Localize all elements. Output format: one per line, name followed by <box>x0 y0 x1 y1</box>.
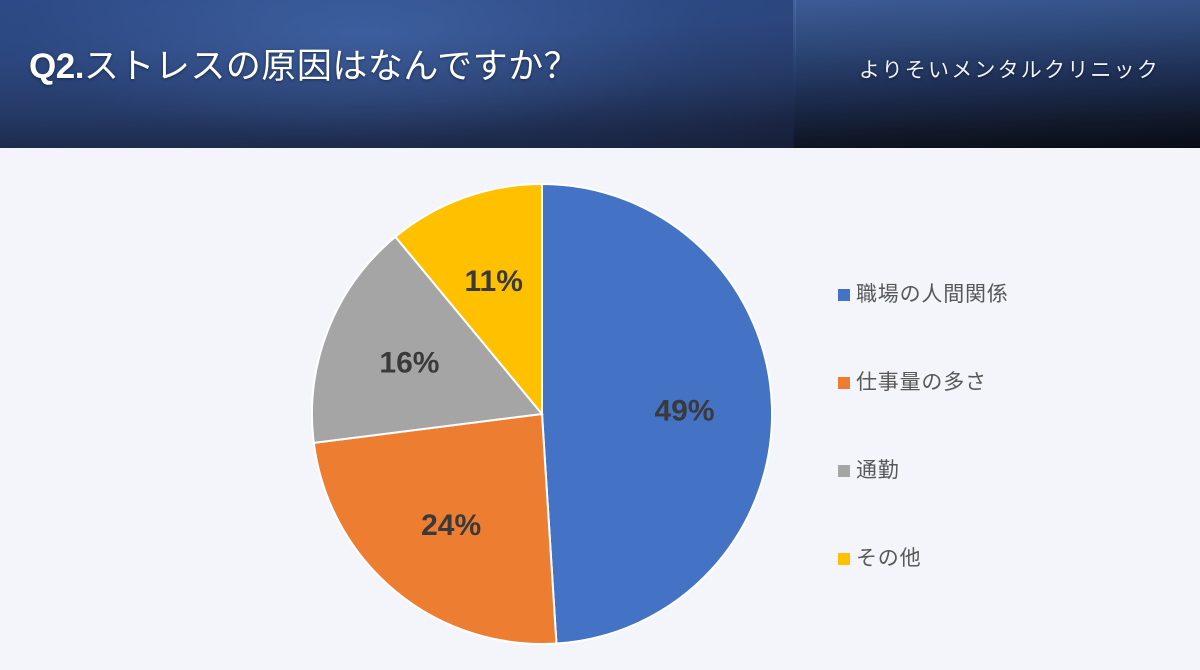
legend-swatch-icon-1 <box>838 377 850 389</box>
legend-item-3[interactable]: その他 <box>838 548 1138 570</box>
pie-chart: 49% 24% 16% 11% <box>300 170 790 660</box>
legend-swatch-icon-0 <box>838 289 850 301</box>
legend-item-2[interactable]: 通勤 <box>838 460 1138 482</box>
pie-slice-label-1: 24% <box>421 509 481 542</box>
slide-root: Q2. ストレスの原因はなんですか？ よりそいメンタルクリニック 49% 24%… <box>0 0 1200 670</box>
pie-slice-label-3: 11% <box>465 265 523 298</box>
pie-slice-label-0: 49% <box>654 395 714 428</box>
question-text: ストレスの原因はなんですか？ <box>84 38 579 89</box>
legend-swatch-icon-2 <box>838 465 850 477</box>
clinic-name: よりそいメンタルクリニック <box>859 54 1160 84</box>
legend-item-1[interactable]: 仕事量の多さ <box>838 372 1138 394</box>
question-number: Q2. <box>29 47 84 87</box>
legend-label-1: 仕事量の多さ <box>856 372 987 394</box>
legend-label-3: その他 <box>856 548 921 570</box>
legend-swatch-icon-3 <box>838 553 850 565</box>
slide-header: Q2. ストレスの原因はなんですか？ よりそいメンタルクリニック <box>0 0 1200 148</box>
pie-slice-label-2: 16% <box>379 347 439 380</box>
chart-legend: 職場の人間関係 仕事量の多さ 通勤 その他 <box>838 284 1138 570</box>
chart-area: 49% 24% 16% 11% 職場の人間関係 仕事量の多さ 通勤 その <box>0 148 1200 670</box>
legend-item-0[interactable]: 職場の人間関係 <box>838 284 1138 306</box>
legend-label-0: 職場の人間関係 <box>856 284 1009 306</box>
header-panel-divider <box>793 0 796 148</box>
legend-label-2: 通勤 <box>856 460 900 482</box>
page-title: Q2. ストレスの原因はなんですか？ <box>29 38 579 89</box>
